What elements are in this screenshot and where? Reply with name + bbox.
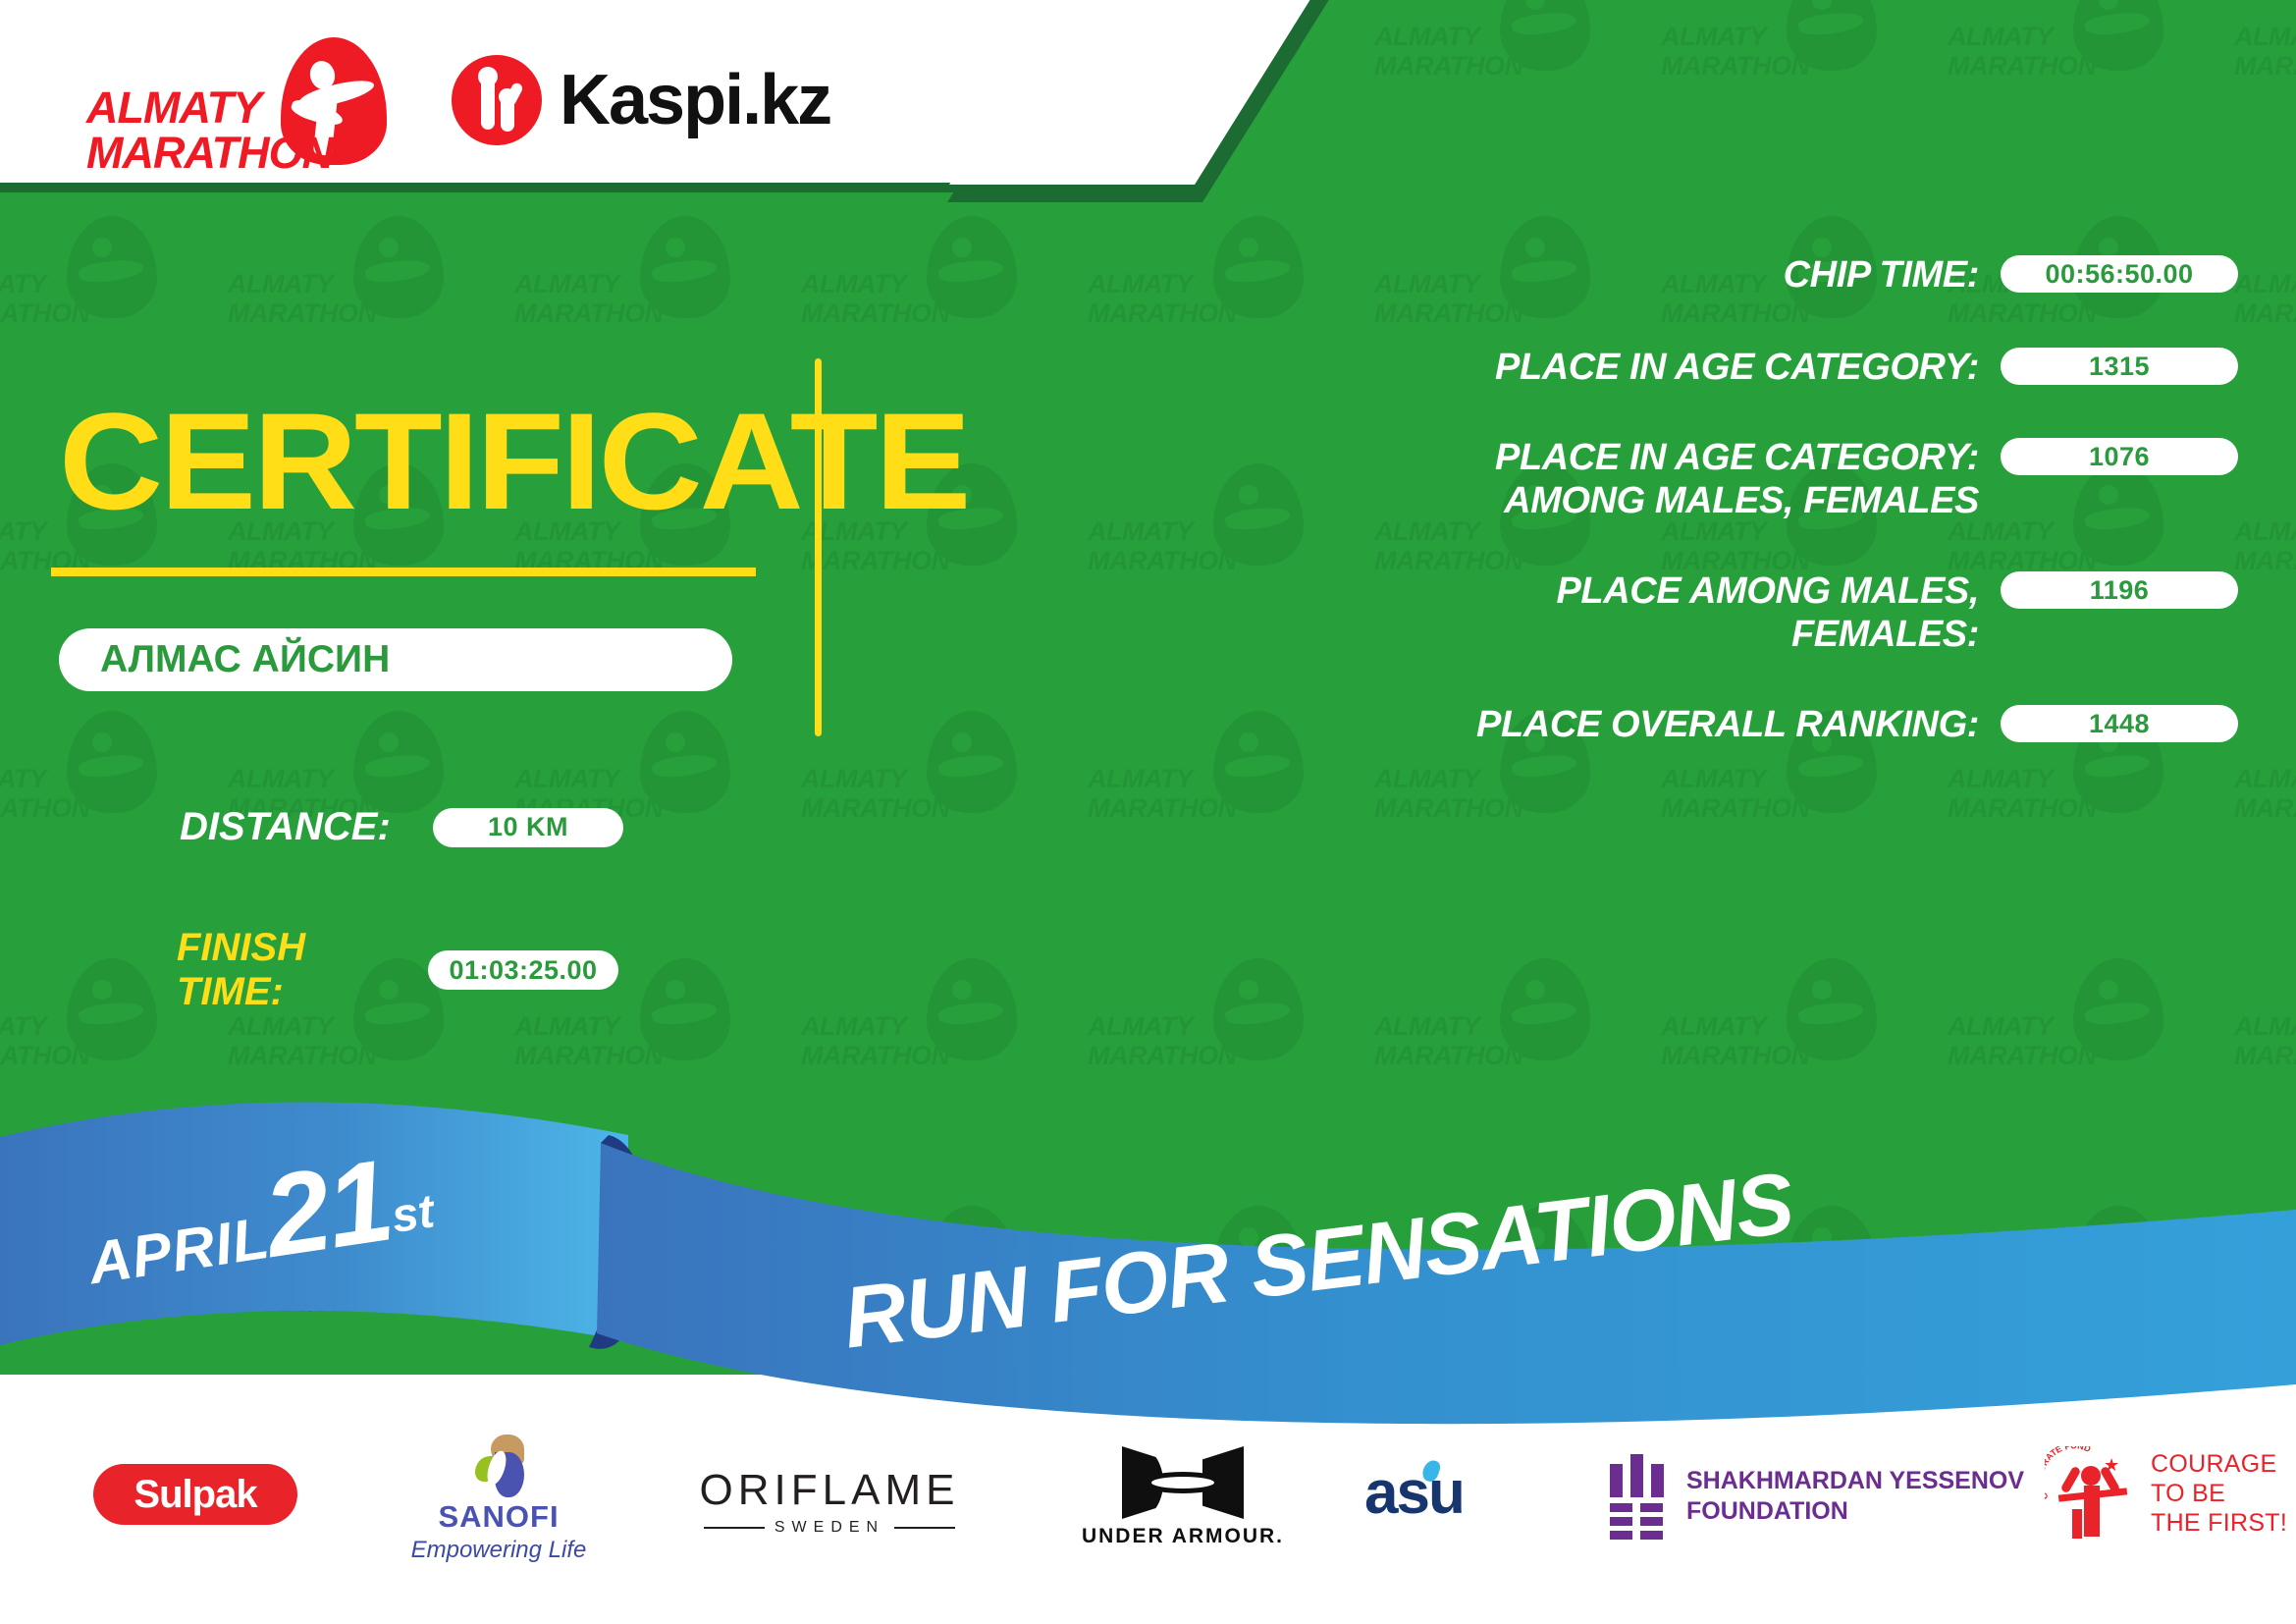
watermark-text: ALMATYMARATHON [1374, 22, 1531, 81]
watermark-tile: ALMATYMARATHON [2234, 703, 2296, 948]
courage-runner-icon: CORPORATE FUND ★ [2047, 1444, 2137, 1543]
event-day-suffix: st [389, 1185, 438, 1243]
stat-value: 1076 [2089, 442, 2150, 472]
kaspi-person-tall-head-icon [478, 67, 498, 86]
stat-value-pill: 00:56:50.00 [2001, 255, 2238, 293]
watermark-text: ALMATYMARATHON [1661, 22, 1818, 81]
watermark-text: ALMATYMARATHON [228, 1011, 385, 1070]
stat-row: PLACE OVERALL RANKING:1448 [864, 703, 2238, 746]
yessenov-line1: SHAKHMARDAN YESSENOV [1686, 1466, 2024, 1496]
courage-line3: THE FIRST! [2151, 1508, 2287, 1538]
sponsor-yessenov-foundation: SHAKHMARDAN YESSENOV FOUNDATION [1610, 1454, 2024, 1539]
title-underline [51, 568, 756, 576]
yessenov-line2: FOUNDATION [1686, 1496, 2024, 1527]
watermark-text: ALMATYMARATHON [2234, 269, 2296, 328]
finish-time-label: FINISH TIME: [177, 926, 420, 1014]
watermark-text: ALMATYMARATHON [514, 1011, 671, 1070]
watermark-tile: ALMATYMARATHON [1948, 0, 2232, 206]
watermark-text: ALMATYMARATHON [1088, 1011, 1245, 1070]
sponsor-sanofi: SANOFI Empowering Life [400, 1435, 597, 1564]
almaty-logo-line1: ALMATY [86, 82, 261, 134]
finish-time-value-pill: 01:03:25.00 [428, 950, 618, 990]
watermark-text: ALMATYMARATHON [2234, 516, 2296, 575]
courage-wordmark: COURAGE TO BE THE FIRST! [2151, 1449, 2287, 1538]
courage-line2: TO BE [2151, 1479, 2287, 1508]
sanofi-icon [469, 1435, 528, 1495]
participant-name: АЛМАС АЙСИН [100, 638, 390, 681]
sanofi-wordmark: SANOFI [400, 1499, 597, 1535]
watermark-text: ALMATYMARATHON [801, 1011, 958, 1070]
watermark-tile: ALMATYMARATHON [2234, 0, 2296, 206]
stats-list: CHIP TIME:00:56:50.00PLACE IN AGE CATEGO… [864, 253, 2238, 746]
watermark-tile: ALMATYMARATHON [2234, 456, 2296, 701]
page-title: CERTIFICATE [59, 393, 968, 530]
watermark-tile: ALMATYMARATHON [2234, 208, 2296, 454]
under-armour-wordmark: UNDER ARMOUR. [1070, 1525, 1296, 1548]
oriflame-wordmark: ORIFLAME [687, 1466, 972, 1515]
stat-row: PLACE AMONG MALES,FEMALES:1196 [864, 569, 2238, 656]
almaty-marathon-logo: ALMATY MARATHON [86, 37, 400, 163]
stat-value-pill: 1076 [2001, 438, 2238, 475]
stat-label: PLACE OVERALL RANKING: [864, 703, 2001, 746]
watermark-tile: ALMATYMARATHON [1661, 0, 1946, 206]
asu-wordmark: asu [1364, 1458, 1464, 1528]
event-month: APRIL [84, 1205, 274, 1297]
kaspi-wordmark: Kaspi.kz [560, 61, 830, 139]
finish-time-row: FINISH TIME: 01:03:25.00 [177, 926, 618, 1014]
distance-value: 10 KM [488, 812, 568, 842]
under-armour-icon [1114, 1446, 1252, 1519]
oriflame-sub: SWEDEN [687, 1519, 972, 1537]
watermark-text: ALMATYMARATHON [2234, 1011, 2296, 1070]
stat-value: 1315 [2089, 352, 2150, 382]
watermark-text: ALMATYMARATHON [1948, 22, 2105, 81]
oriflame-rule-left [704, 1527, 765, 1529]
almaty-logo-line2: MARATHON [86, 128, 333, 179]
stat-value: 00:56:50.00 [2045, 259, 2193, 290]
stat-label: PLACE IN AGE CATEGORY:AMONG MALES, FEMAL… [864, 436, 2001, 522]
watermark-text: ALMATYMARATHON [228, 269, 385, 328]
sulpak-wordmark: Sulpak [133, 1473, 256, 1517]
courage-line1: COURAGE [2151, 1449, 2287, 1479]
stat-value: 1448 [2089, 709, 2150, 739]
watermark-text: ALMATYMARATHON [1088, 764, 1245, 823]
watermark-text: ALMATYMARATHON [1661, 764, 1818, 823]
column-divider [815, 358, 822, 736]
kaspi-logo: Kaspi.kz [452, 55, 766, 157]
watermark-text: ALMATYMARATHON [801, 764, 958, 823]
sponsor-bar: Sulpak SANOFI Empowering Life ORIFLAME S… [0, 1429, 2296, 1605]
stat-row: PLACE IN AGE CATEGORY:AMONG MALES, FEMAL… [864, 436, 2238, 522]
yessenov-wordmark: SHAKHMARDAN YESSENOV FOUNDATION [1686, 1466, 2024, 1527]
sulpak-logo: Sulpak [93, 1464, 297, 1525]
stat-label: PLACE AMONG MALES,FEMALES: [864, 569, 2001, 656]
watermark-text: ALMATYMARATHON [1661, 1011, 1818, 1070]
stat-value: 1196 [2090, 575, 2150, 606]
sponsor-sulpak: Sulpak [93, 1464, 297, 1525]
watermark-text: ALMATYMARATHON [0, 1011, 98, 1070]
watermark-text: ALMATYMARATHON [1374, 764, 1531, 823]
watermark-text: ALMATYMARATHON [2234, 764, 2296, 823]
sponsor-under-armour: UNDER ARMOUR. [1070, 1446, 1296, 1548]
finish-time-value: 01:03:25.00 [449, 955, 597, 986]
stat-value-pill: 1448 [2001, 705, 2238, 742]
watermark-text: ALMATYMARATHON [1948, 764, 2105, 823]
oriflame-rule-right [894, 1527, 955, 1529]
sponsor-courage-fund: CORPORATE FUND ★ COURAGE TO BE THE FIRST… [2047, 1444, 2287, 1543]
distance-value-pill: 10 KM [433, 808, 623, 847]
watermark-text: ALMATYMARATHON [0, 269, 98, 328]
yessenov-icon [1610, 1454, 1665, 1539]
watermark-tile: ALMATYMARATHON [1374, 0, 1659, 206]
stat-value-pill: 1315 [2001, 348, 2238, 385]
stat-value-pill: 1196 [2001, 571, 2238, 609]
distance-row: DISTANCE: 10 KM [180, 805, 623, 849]
event-day: 21 [256, 1136, 399, 1282]
participant-name-field: АЛМАС АЙСИН [59, 628, 732, 691]
sponsor-asu: asu [1364, 1458, 1464, 1528]
watermark-text: ALMATYMARATHON [1948, 1011, 2105, 1070]
asu-text: asu [1364, 1459, 1464, 1527]
watermark-text: ALMATYMARATHON [2234, 22, 2296, 81]
sponsor-oriflame: ORIFLAME SWEDEN [687, 1466, 972, 1537]
stat-row: PLACE IN AGE CATEGORY:1315 [864, 346, 2238, 389]
watermark-text: ALMATYMARATHON [0, 764, 98, 823]
distance-label: DISTANCE: [180, 805, 425, 849]
watermark-text: ALMATYMARATHON [514, 269, 671, 328]
stat-label: CHIP TIME: [864, 253, 2001, 297]
event-ribbon: APRIL21st RUN FOR SENSATIONS [0, 1100, 2296, 1443]
stat-label: PLACE IN AGE CATEGORY: [864, 346, 2001, 389]
stat-sublabel: AMONG MALES, FEMALES [864, 479, 1979, 522]
oriflame-country: SWEDEN [774, 1519, 884, 1537]
stat-row: CHIP TIME:00:56:50.00 [864, 253, 2238, 297]
watermark-text: ALMATYMARATHON [1374, 1011, 1531, 1070]
certificate-page: ALMATYMARATHONALMATYMARATHONALMATYMARATH… [0, 0, 2296, 1624]
sanofi-tagline: Empowering Life [400, 1537, 597, 1564]
kaspi-circle-icon [452, 55, 542, 145]
stat-sublabel: FEMALES: [864, 613, 1979, 656]
